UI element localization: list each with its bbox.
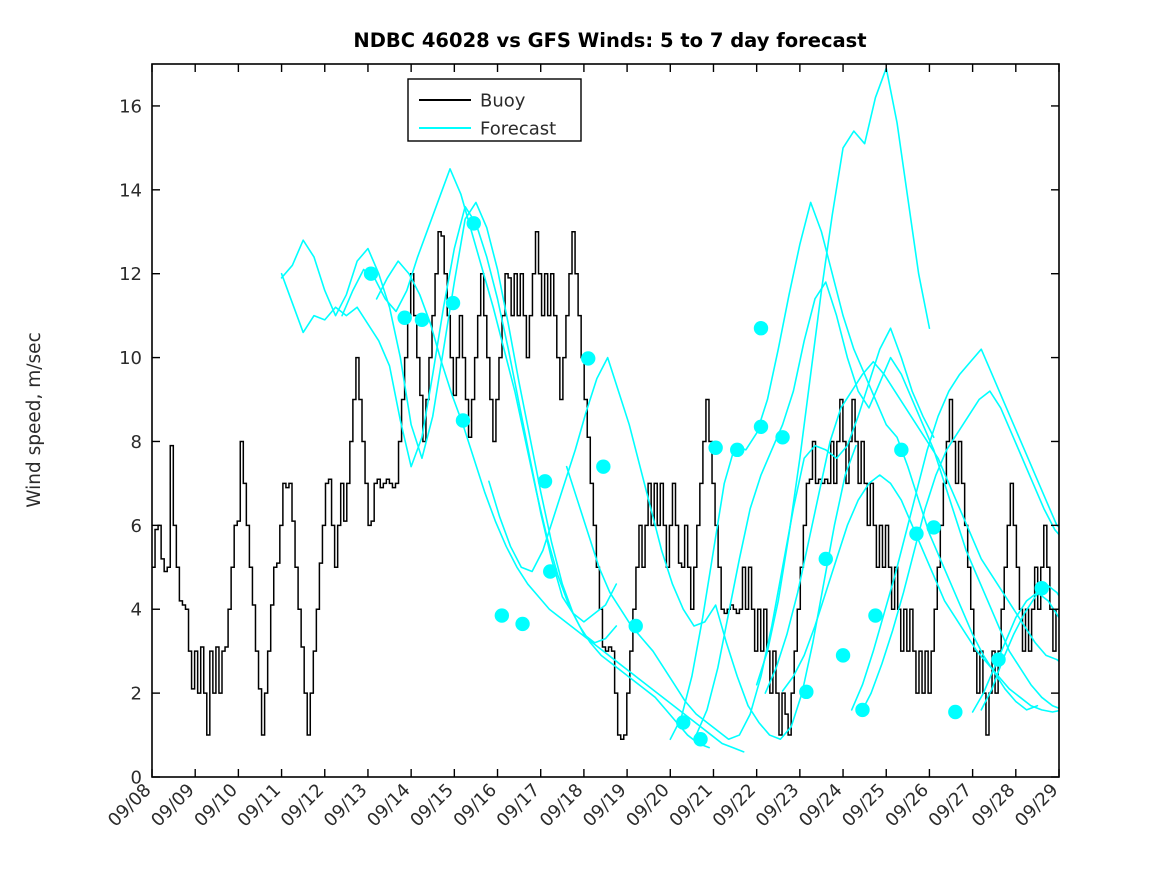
- marker-point: [819, 552, 833, 566]
- wind-speed-chart: NDBC 46028 vs GFS Winds: 5 to 7 day fore…: [0, 0, 1167, 875]
- marker-point: [397, 311, 411, 325]
- marker-point: [676, 715, 690, 729]
- marker-point: [708, 441, 722, 455]
- marker-point: [855, 703, 869, 717]
- marker-point: [775, 430, 789, 444]
- chart-root: NDBC 46028 vs GFS Winds: 5 to 7 day fore…: [0, 0, 1167, 875]
- marker-point: [515, 617, 529, 631]
- y-tick-label: 4: [131, 600, 142, 621]
- chart-legend: BuoyForecast: [408, 79, 581, 141]
- marker-point: [364, 267, 378, 281]
- marker-point: [446, 296, 460, 310]
- y-axis-label: Wind speed, m/sec: [24, 332, 45, 507]
- marker-point: [629, 619, 643, 633]
- marker-point: [927, 520, 941, 534]
- marker-point: [596, 459, 610, 473]
- y-tick-label: 14: [119, 180, 142, 201]
- marker-point: [799, 685, 813, 699]
- marker-point: [909, 527, 923, 541]
- marker-point: [1035, 581, 1049, 595]
- y-tick-label: 16: [119, 96, 142, 117]
- marker-point: [538, 474, 552, 488]
- marker-point: [495, 608, 509, 622]
- y-tick-label: 8: [131, 432, 142, 453]
- y-tick-label: 12: [119, 264, 142, 285]
- y-tick-label: 2: [131, 684, 142, 705]
- marker-point: [991, 652, 1005, 666]
- legend-label-buoy: Buoy: [480, 91, 526, 112]
- marker-point: [948, 705, 962, 719]
- marker-point: [693, 732, 707, 746]
- marker-point: [894, 443, 908, 457]
- marker-point: [543, 564, 557, 578]
- marker-point: [467, 216, 481, 230]
- legend-label-forecast: Forecast: [480, 119, 556, 140]
- marker-point: [754, 321, 768, 335]
- marker-point: [836, 648, 850, 662]
- figure-background: [0, 0, 1167, 875]
- marker-point: [730, 443, 744, 457]
- y-tick-label: 10: [119, 348, 142, 369]
- marker-point: [581, 351, 595, 365]
- marker-point: [868, 608, 882, 622]
- y-tick-label: 6: [131, 516, 142, 537]
- chart-title: NDBC 46028 vs GFS Winds: 5 to 7 day fore…: [353, 29, 866, 52]
- marker-point: [754, 420, 768, 434]
- marker-point: [456, 413, 470, 427]
- marker-point: [415, 313, 429, 327]
